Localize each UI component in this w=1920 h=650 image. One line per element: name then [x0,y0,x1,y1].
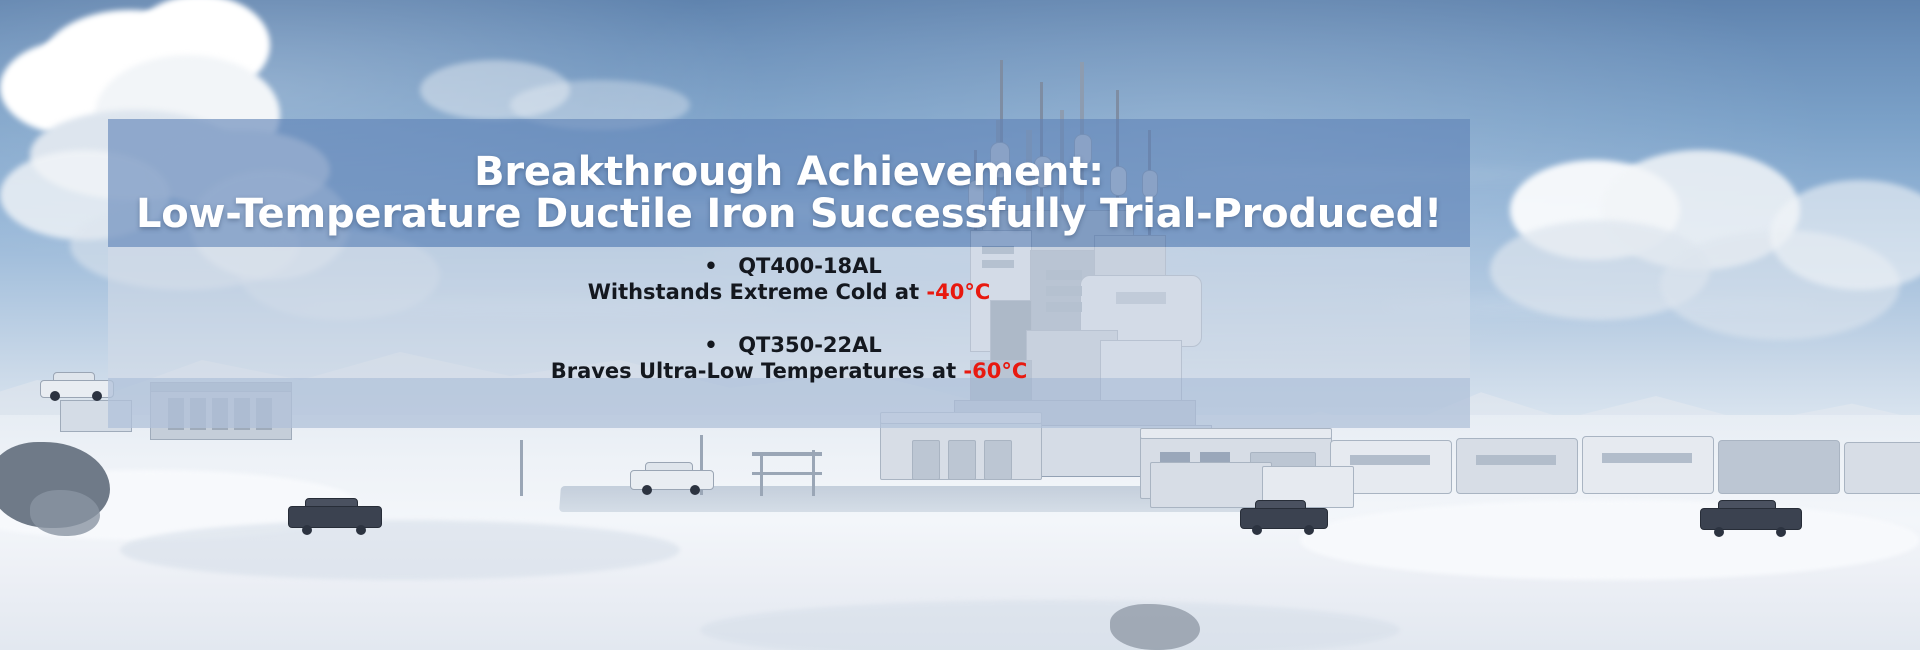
vehicle-car-right [1240,500,1326,532]
page-title: Breakthrough Achievement: Low-Temperatur… [108,119,1470,235]
bullet-grade-row: •QT350-22AL [108,332,1470,358]
vehicle-suv-left [288,498,380,532]
headline-line-2: Low-Temperature Ductile Iron Successfull… [108,193,1470,235]
bullet-grade-row: •QT400-18AL [108,253,1470,279]
bullet-marker-icon: • [704,332,738,358]
bullet-description-text: Braves Ultra-Low Temperatures at [551,359,964,383]
bullet-marker-icon: • [704,253,738,279]
list-item: •QT350-22AL Braves Ultra-Low Temperature… [108,332,1470,384]
bullet-description-row: Withstands Extreme Cold at -40°C [108,279,1470,305]
snow-drift [1300,500,1920,580]
temperature-value: -40°C [926,280,990,304]
promo-banner: Breakthrough Achievement: Low-Temperatur… [108,119,1470,428]
snow-drift [120,520,680,580]
headline-line-1: Breakthrough Achievement: [108,151,1470,193]
fence-rail [752,472,822,475]
bullet-description-row: Braves Ultra-Low Temperatures at -60°C [108,358,1470,384]
bullet-description-text: Withstands Extreme Cold at [588,280,927,304]
bullet-grade-label: QT400-18AL [738,254,882,278]
vehicle-truck-right [1700,500,1800,534]
list-item: •QT400-18AL Withstands Extreme Cold at -… [108,253,1470,305]
utility-pole [520,440,523,496]
vehicle-suv-center [630,462,712,492]
bullet-grade-label: QT350-22AL [738,333,882,357]
vehicle-truck-left [40,372,112,398]
fence-rail [752,452,822,456]
banner-screenshot: Breakthrough Achievement: Low-Temperatur… [0,0,1920,650]
temperature-value: -60°C [963,359,1027,383]
feature-list: •QT400-18AL Withstands Extreme Cold at -… [108,253,1470,411]
